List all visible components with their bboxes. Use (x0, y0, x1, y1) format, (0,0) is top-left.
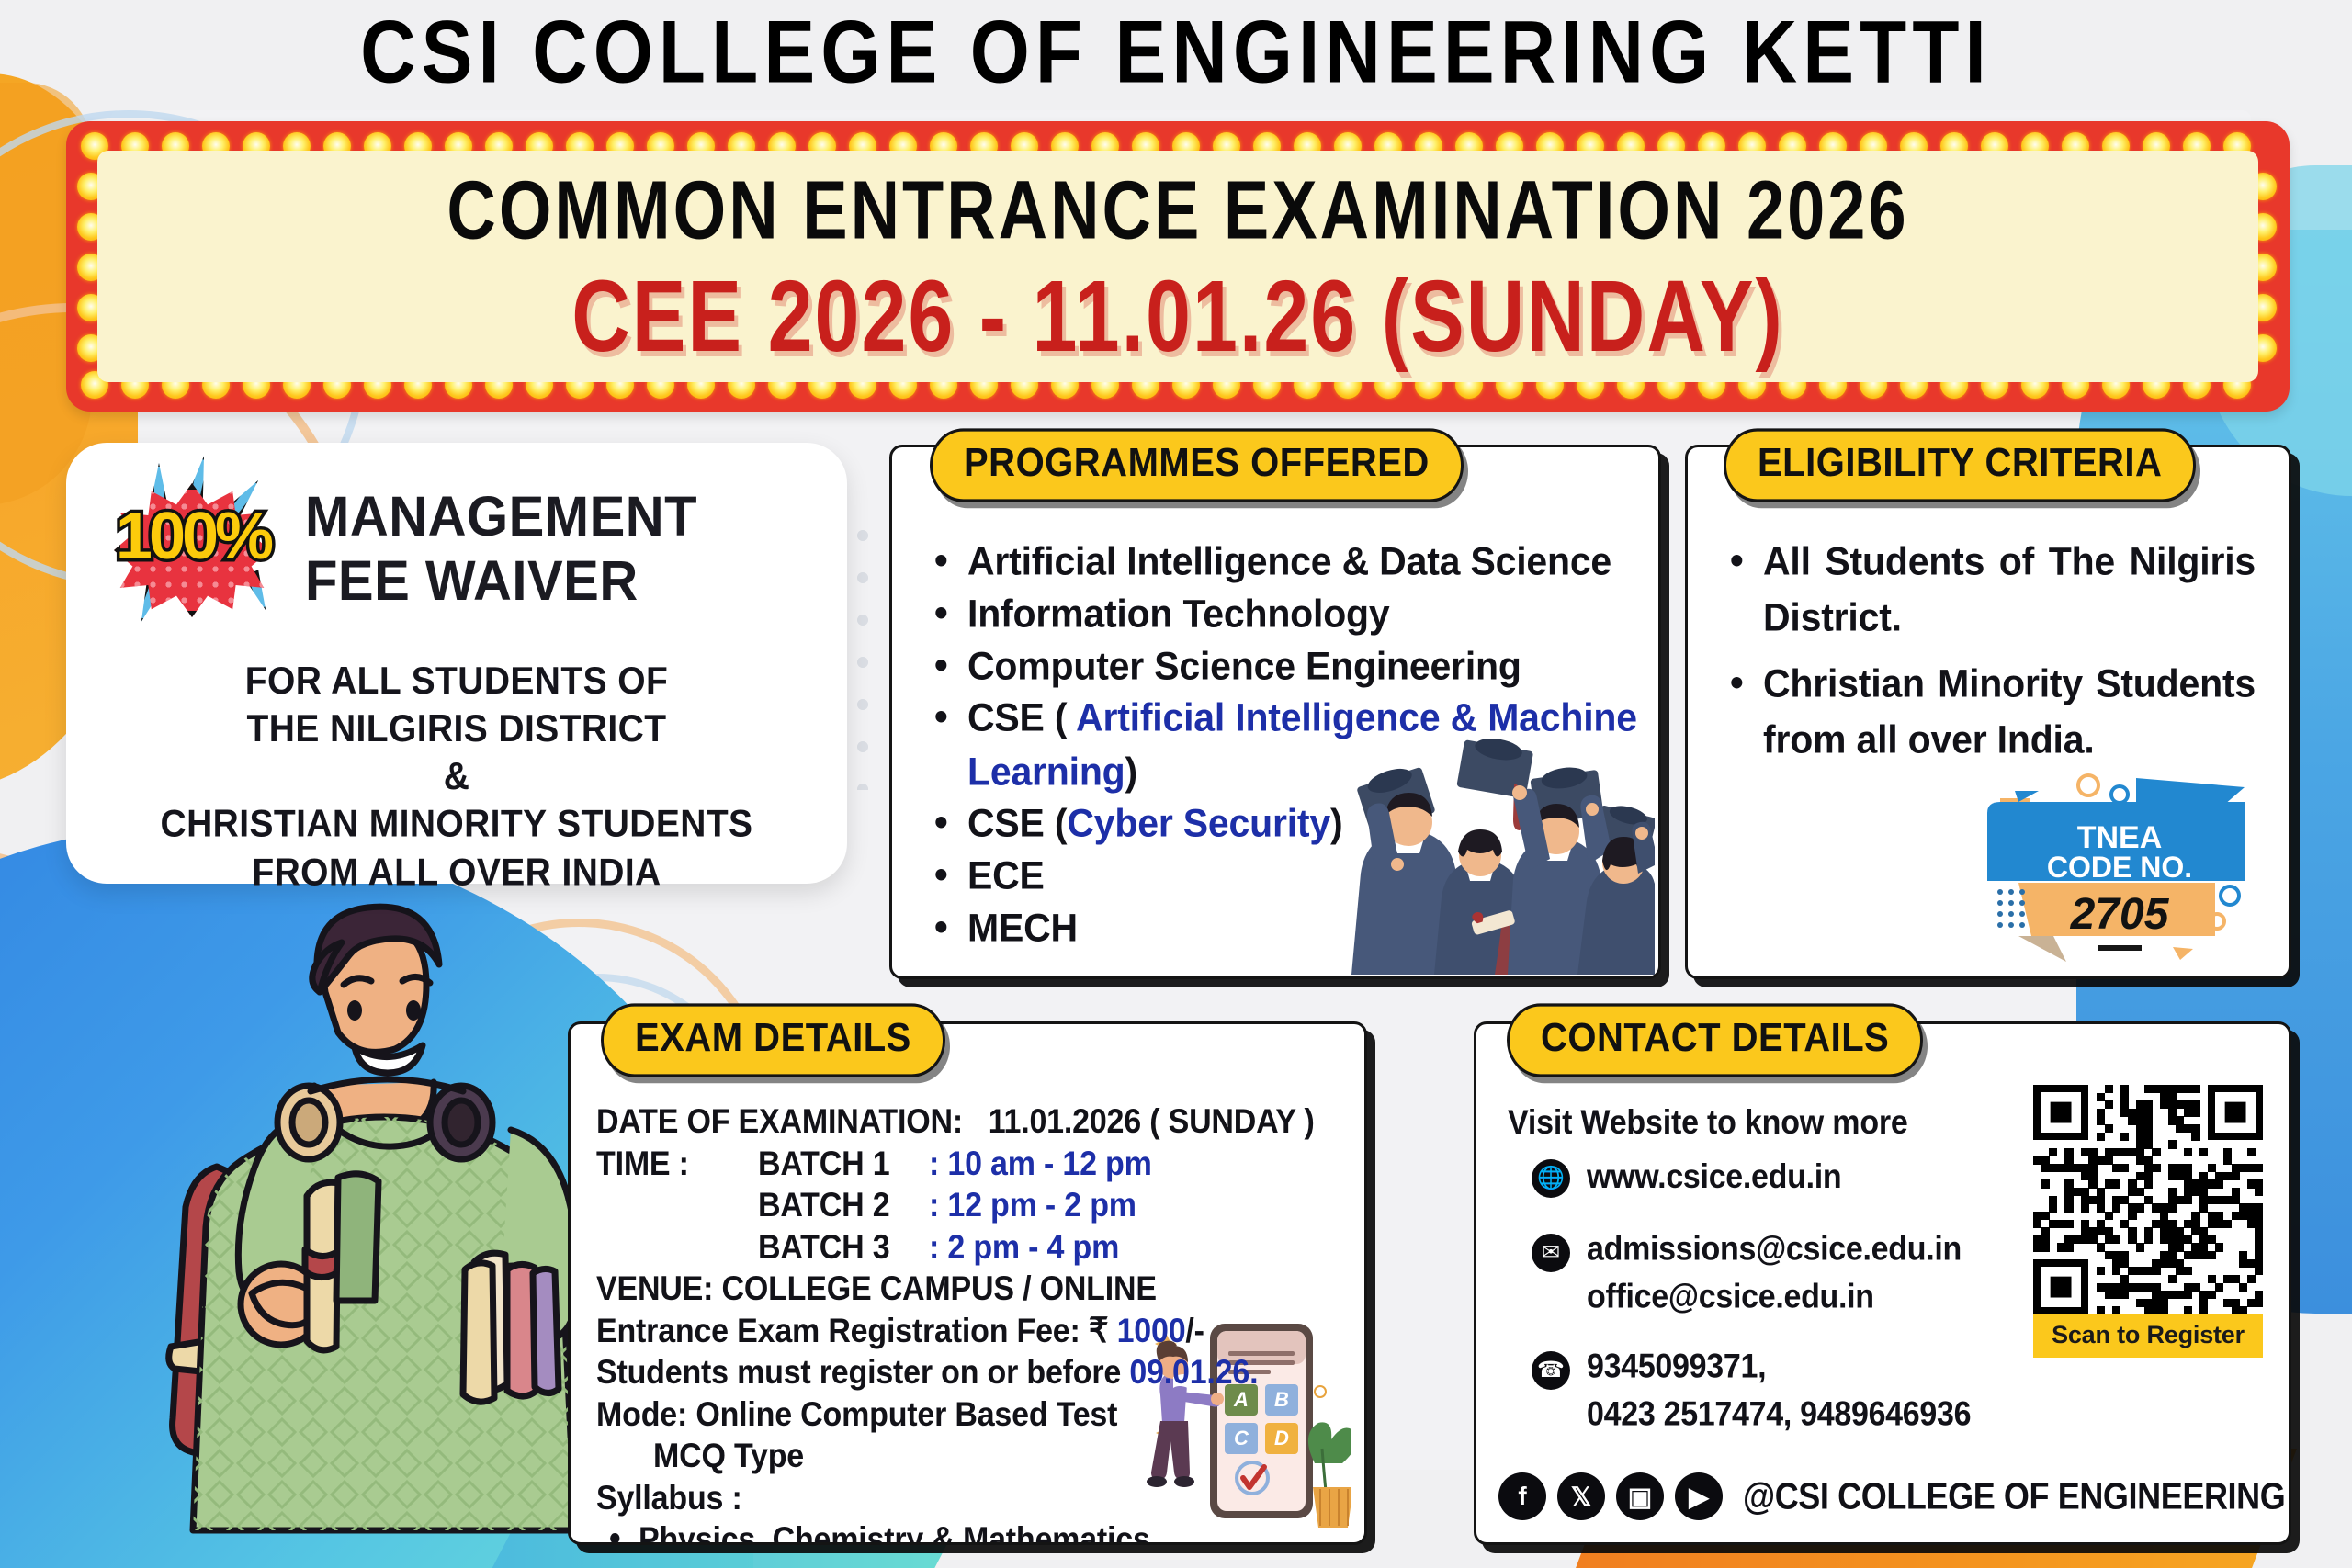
programme-item: Computer Science Engineering (931, 639, 1658, 694)
phone-row[interactable]: ☎ 9345099371, 0423 2517474, 9489646936 (1532, 1348, 2289, 1434)
programme-item: Information Technology (931, 587, 1658, 641)
fee-waiver-line-4: CHRISTIAN MINORITY STUDENTS (83, 801, 831, 849)
fee-waiver-line-3: & (83, 753, 831, 801)
register-deadline-label: Students must register on or before (596, 1353, 1129, 1392)
exam-date-value: 11.01.2026 ( SUNDAY ) (989, 1102, 1315, 1141)
tnea-code-value: 2705 (2070, 890, 2170, 939)
scan-to-register-label: Scan to Register (2033, 1314, 2263, 1358)
exam-fee-value: 1000 (1117, 1312, 1186, 1350)
social-handle-text: @CSI COLLEGE OF ENGINEERING (1743, 1474, 2285, 1517)
syllabus-label: Syllabus : (596, 1476, 1364, 1522)
exam-fee-label: Entrance Exam Registration Fee: ₹ (596, 1312, 1117, 1350)
register-deadline-date: 09.01.26. (1129, 1353, 1258, 1392)
facebook-icon[interactable]: f (1498, 1472, 1546, 1520)
qr-finder-pattern (2033, 1259, 2088, 1314)
programme-item: CSE ( Artificial Intelligence & Machine … (931, 691, 1658, 800)
marquee-inner-panel: COMMON ENTRANCE EXAMINATION 2026 CEE 202… (97, 151, 2258, 382)
programme-suffix: ) (1330, 801, 1342, 845)
hundred-percent-badge-icon: 100% (90, 467, 292, 632)
exam-venue: VENUE: COLLEGE CAMPUS / ONLINE (596, 1267, 1364, 1313)
exam-date-row: DATE OF EXAMINATION: 11.01.2026 ( SUNDAY… (596, 1100, 1364, 1145)
programme-item: MECH (931, 901, 1658, 955)
website-url[interactable]: www.csice.edu.in (1587, 1154, 1841, 1201)
eligibility-item: All Students of The Nilgiris District. (1724, 534, 2256, 648)
batch-row-1: TIME : BATCH 1 : 10 am - 12 pm (596, 1141, 1364, 1187)
exam-mode: Mode: Online Computer Based Test (596, 1393, 1364, 1438)
college-name-title: CSI COLLEGE OF ENGINEERING KETTI (0, 2, 2352, 104)
fee-waiver-line-5: FROM ALL OVER INDIA (83, 849, 831, 897)
social-media-row[interactable]: f 𝕏 ▣ ▶ @CSI COLLEGE OF ENGINEERING (1498, 1472, 2285, 1520)
eligibility-item: Christian Minority Students from all ove… (1724, 655, 2256, 769)
batch-row-2: BATCH 2 : 12 pm - 2 pm (596, 1183, 1364, 1229)
student-illustration (79, 854, 639, 1562)
exam-date-label: DATE OF EXAMINATION: (596, 1102, 963, 1141)
programme-item: ECE (931, 849, 1658, 903)
eligibility-criteria-card: All Students of The Nilgiris District.Ch… (1685, 445, 2291, 979)
fee-waiver-line-2: THE NILGIRIS DISTRICT (83, 705, 831, 753)
exam-announcement-banner: COMMON ENTRANCE EXAMINATION 2026 CEE 202… (66, 121, 2290, 412)
tnea-label-line2: CODE NO. (2047, 851, 2192, 884)
phone-block[interactable]: 9345099371, 0423 2517474, 9489646936 (1587, 1343, 1971, 1438)
email-block[interactable]: admissions@csice.edu.in office@csice.edu… (1587, 1225, 1962, 1320)
exam-details-title: EXAM DETAILS (601, 1003, 945, 1077)
qr-code-block[interactable]: Scan to Register (2033, 1085, 2263, 1358)
exam-mode-sub: MCQ Type (596, 1434, 1364, 1480)
qr-finder-pattern (2033, 1085, 2088, 1140)
exam-date-heading: CEE 2026 - 11.01.26 (SUNDAY) (571, 256, 1784, 375)
exam-register-row: Students must register on or before 09.0… (596, 1350, 1364, 1396)
batch-row-3: BATCH 3 : 2 pm - 4 pm (596, 1224, 1364, 1270)
globe-icon: 🌐 (1532, 1159, 1570, 1198)
fee-waiver-description: FOR ALL STUDENTS OF THE NILGIRIS DISTRIC… (66, 625, 847, 897)
programme-item: Artificial Intelligence & Data Science (931, 535, 1658, 589)
batch-1-name: BATCH 1 (758, 1141, 929, 1187)
hundred-percent-label: 100% (90, 503, 296, 570)
tnea-code-badge: TNEA CODE NO. 2705 (1980, 771, 2256, 964)
programmes-offered-card: Artificial Intelligence & Data ScienceIn… (889, 445, 1661, 979)
fee-waiver-heading: MANAGEMENT FEE WAIVER (305, 485, 697, 614)
qr-code-image[interactable] (2033, 1085, 2263, 1314)
phone-icon: ☎ (1532, 1351, 1570, 1390)
page-header: CSI COLLEGE OF ENGINEERING KETTI (0, 2, 2352, 88)
programmes-list: Artificial Intelligence & Data ScienceIn… (892, 447, 1658, 954)
batch-3-time: : 2 pm - 4 pm (929, 1224, 1119, 1270)
fee-waiver-header-row: 100% MANAGEMENT FEE WAIVER (66, 443, 847, 632)
batch-1-time: : 10 am - 12 pm (929, 1141, 1152, 1187)
eligibility-criteria-title: ELIGIBILITY CRITERIA (1724, 428, 2196, 502)
contact-details-card: Visit Website to know more 🌐 www.csice.e… (1474, 1021, 2291, 1545)
contact-details-title: CONTACT DETAILS (1507, 1003, 1923, 1077)
email-office[interactable]: office@csice.edu.in (1587, 1277, 1874, 1315)
qr-finder-pattern (2208, 1085, 2263, 1140)
instagram-icon[interactable]: ▣ (1616, 1472, 1664, 1520)
programme-suffix: ) (1125, 750, 1137, 794)
programme-prefix: CSE ( (967, 801, 1067, 845)
time-label: TIME : (596, 1141, 758, 1187)
batch-3-name: BATCH 3 (758, 1224, 929, 1270)
fee-waiver-heading-line1: MANAGEMENT (305, 485, 697, 549)
envelope-icon: ✉ (1532, 1234, 1570, 1272)
fee-waiver-line-1: FOR ALL STUDENTS OF (83, 658, 831, 705)
x-twitter-icon[interactable]: 𝕏 (1557, 1472, 1605, 1520)
exam-details-body: DATE OF EXAMINATION: 11.01.2026 ( SUNDAY… (571, 1024, 1364, 1545)
batch-2-name: BATCH 2 (758, 1183, 929, 1229)
fee-waiver-card: 100% MANAGEMENT FEE WAIVER FOR ALL STUDE… (66, 443, 847, 884)
programme-specialization: Cyber Security (1067, 801, 1330, 845)
exam-fee-suffix: /- (1185, 1312, 1204, 1350)
exam-details-card: DATE OF EXAMINATION: 11.01.2026 ( SUNDAY… (568, 1021, 1367, 1545)
email-admissions[interactable]: admissions@csice.edu.in (1587, 1230, 1962, 1269)
fee-waiver-heading-line2: FEE WAIVER (305, 549, 697, 614)
programme-prefix: CSE ( (967, 695, 1076, 739)
syllabus-item: Physics, Chemistry & Mathematics (596, 1517, 1364, 1545)
phone-secondary[interactable]: 0423 2517474, 9489646936 (1587, 1394, 1971, 1433)
programmes-offered-title: PROGRAMMES OFFERED (930, 428, 1464, 502)
programme-item: CSE (Cyber Security) (931, 796, 1658, 851)
youtube-icon[interactable]: ▶ (1675, 1472, 1723, 1520)
batch-2-time: : 12 pm - 2 pm (929, 1183, 1136, 1229)
exam-fee-row: Entrance Exam Registration Fee: ₹ 1000/- (596, 1308, 1364, 1354)
phone-primary[interactable]: 9345099371, (1587, 1347, 1766, 1385)
exam-name-heading: COMMON ENTRANCE EXAMINATION 2026 (447, 162, 1908, 257)
